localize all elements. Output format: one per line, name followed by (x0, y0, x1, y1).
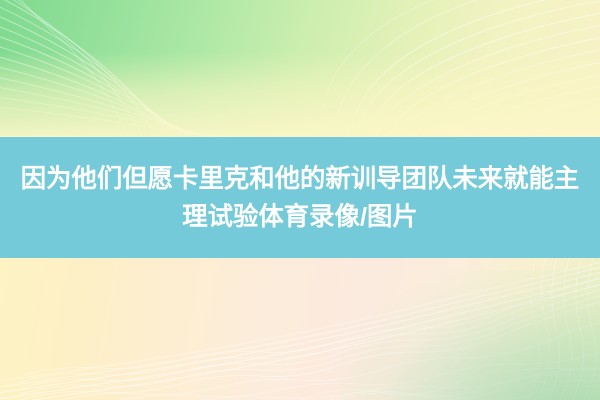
caption-line-2: 理试验体育录像/图片 (6, 198, 594, 236)
caption-line-1: 因为他们但愿卡里克和他的新训导团队未来就能主 (6, 160, 594, 198)
top-gradient-region (0, 0, 600, 137)
caption-band: 因为他们但愿卡里克和他的新训导团队未来就能主 理试验体育录像/图片 (0, 137, 600, 258)
top-right-arc-pattern (0, 0, 600, 137)
top-left-arc-pattern (0, 0, 600, 137)
bottom-gradient-region (0, 258, 600, 400)
banner-image: 因为他们但愿卡里克和他的新训导团队未来就能主 理试验体育录像/图片 (0, 0, 600, 400)
bottom-wave-pattern (0, 258, 600, 400)
